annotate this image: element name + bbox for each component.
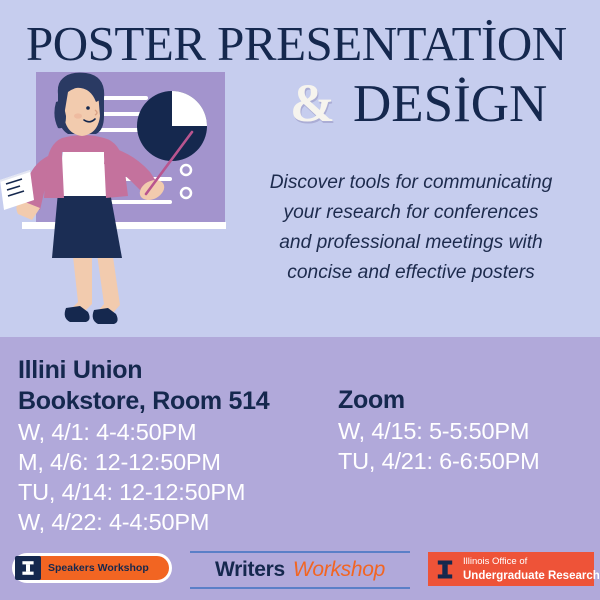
session-time: W, 4/15: 5-5:50PM <box>338 416 593 446</box>
logo-speakers-workshop[interactable]: Speakers Workshop <box>12 553 172 583</box>
description-line: and professional meetings with <box>228 228 594 258</box>
ugr-line2: Undergraduate Research <box>463 570 600 582</box>
poster-canvas: POSTER PRESENTATİON & DESİGN Discover to… <box>0 0 600 600</box>
ampersand-glyph: & <box>290 72 335 134</box>
figure-cardigan-collar <box>62 135 104 152</box>
session-time: TU, 4/14: 12-12:50PM <box>18 477 338 507</box>
pie-chart-icon <box>137 91 207 161</box>
logo-writers-workshop[interactable]: Writers Workshop <box>190 551 410 589</box>
poster-title-line2: DESİGN <box>353 73 547 135</box>
workshop-word: Workshop <box>293 558 385 582</box>
speakers-workshop-label: Speakers Workshop <box>48 553 149 583</box>
description-line: concise and effective posters <box>228 258 594 288</box>
poster-title-line2-row: & DESİGN <box>290 72 590 134</box>
ugr-text-block: Illinois Office of Undergraduate Researc… <box>463 556 600 582</box>
figure-blush <box>74 113 82 118</box>
illinois-i-mark-icon <box>15 556 41 580</box>
footer-logos: Speakers Workshop Writers Workshop Illin… <box>0 545 600 600</box>
poster-title-line1: POSTER PRESENTATİON <box>26 18 586 70</box>
illinois-i-mark-icon <box>434 556 456 582</box>
session-time: M, 4/6: 12-12:50PM <box>18 447 338 477</box>
poster-board-ledge <box>22 222 226 229</box>
poster-description: Discover tools for communicating your re… <box>228 168 594 288</box>
figure-eye <box>86 106 90 110</box>
schedule-section: Illini Union Bookstore, Room 514 W, 4/1:… <box>0 337 600 537</box>
figure-skirt <box>52 192 122 258</box>
description-line: your research for conferences <box>228 198 594 228</box>
block-i-glyph <box>20 560 36 576</box>
session-time: TU, 4/21: 6-6:50PM <box>338 446 593 476</box>
description-line: Discover tools for communicating <box>228 168 594 198</box>
schedule-column-zoom: Zoom W, 4/15: 5-5:50PM TU, 4/21: 6-6:50P… <box>338 385 593 476</box>
block-i-glyph <box>436 559 454 580</box>
presenter-illustration <box>0 72 226 337</box>
ugr-line1: Illinois Office of <box>463 556 600 568</box>
session-time: W, 4/1: 4-4:50PM <box>18 417 338 447</box>
location-title-line1: Illini Union <box>18 355 338 386</box>
location-title-zoom: Zoom <box>338 385 593 416</box>
schedule-column-inperson: Illini Union Bookstore, Room 514 W, 4/1:… <box>18 355 338 537</box>
location-title-line2: Bookstore, Room 514 <box>18 386 338 417</box>
session-time: W, 4/22: 4-4:50PM <box>18 507 338 537</box>
writers-word: Writers <box>215 558 285 582</box>
logo-undergraduate-research[interactable]: Illinois Office of Undergraduate Researc… <box>428 552 594 586</box>
